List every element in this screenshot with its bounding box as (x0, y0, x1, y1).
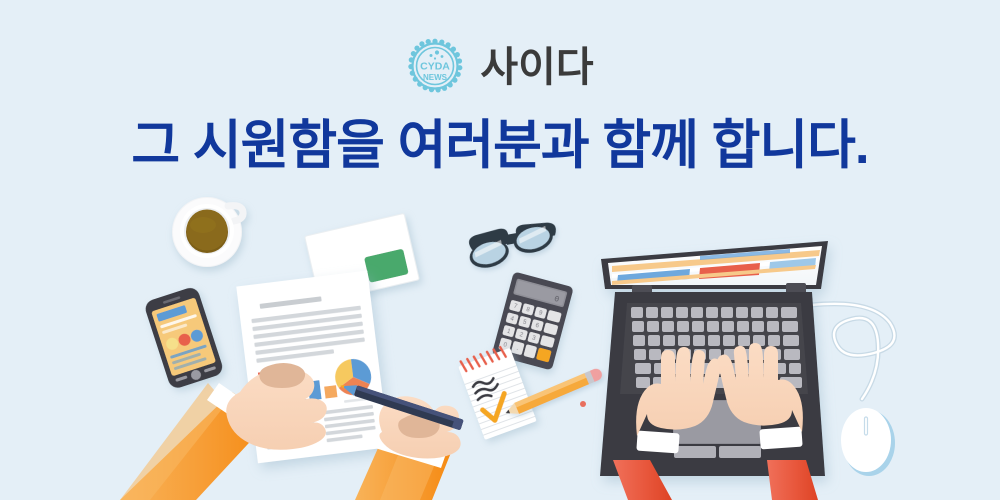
brand-name: 사이다 (480, 47, 593, 88)
cyda-news-banner: 0 789 456 123 0. (0, 0, 1000, 500)
headline: 그 시원함을 여러분과 함께 합니다. (0, 103, 1000, 179)
accent-dot (580, 401, 586, 407)
cyda-news-badge-icon: CYDA NEWS (406, 38, 464, 96)
badge-line2: NEWS (423, 73, 448, 82)
badge-line1: CYDA (421, 61, 451, 73)
brand-row: CYDA NEWS 사이다 (0, 36, 1000, 98)
